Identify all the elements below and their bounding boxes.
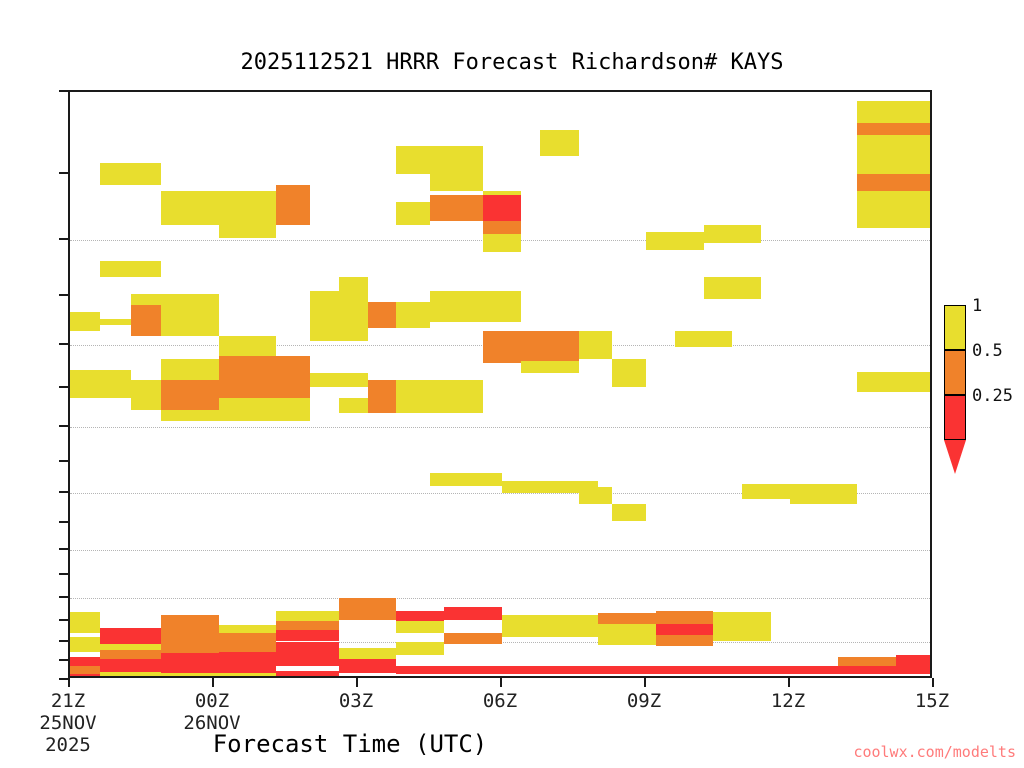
heatmap-cell (368, 380, 397, 413)
heatmap-cell (838, 657, 896, 665)
heatmap-cell (579, 331, 613, 358)
heatmap-cell (857, 174, 932, 191)
heatmap-cell (540, 130, 578, 155)
heatmap-cell (857, 101, 932, 123)
y-tick-mark-850 (59, 619, 68, 621)
heatmap-cell (219, 225, 277, 237)
heatmap-cell (713, 612, 771, 626)
heatmap-cell (219, 673, 277, 677)
heatmap-cell (790, 484, 857, 504)
heatmap-cell (100, 163, 161, 185)
y-tick-mark-950 (59, 659, 68, 661)
heatmap-cell (396, 202, 430, 226)
colorbar-segment-1 (944, 305, 966, 350)
colorbar-label-0.25: 0.25 (972, 386, 1013, 406)
heatmap-cell (70, 370, 100, 398)
watermark-link[interactable]: coolwx.com/modelts (853, 743, 1016, 761)
y-tick-mark-450 (59, 386, 68, 388)
heatmap-cell (100, 261, 161, 277)
heatmap-cell (483, 195, 521, 222)
heatmap-cell (444, 633, 502, 643)
x-tick-mark-12Z (788, 678, 790, 687)
heatmap-cell (219, 191, 277, 226)
heatmap-cell (396, 380, 430, 413)
heatmap-cell (713, 626, 771, 641)
heatmap-cell (396, 302, 430, 329)
y-tick-mark-550 (59, 460, 68, 462)
page-title: 2025112521 HRRR Forecast Richardson# KAY… (0, 50, 1024, 75)
x-tick-mark-00Z (212, 678, 214, 687)
heatmap-cell (483, 221, 521, 234)
heatmap-cell (896, 655, 932, 674)
heatmap-cell (100, 644, 161, 651)
heatmap-cell (161, 191, 219, 226)
colorbar-legend: 10.50.25 (944, 305, 966, 467)
heatmap-cell (339, 398, 368, 413)
heatmap-cell (502, 626, 598, 637)
y-tick-mark-600 (59, 491, 68, 493)
gridline-500 (70, 427, 930, 429)
heatmap-cell (70, 312, 100, 331)
y-tick-mark-200 (59, 90, 68, 92)
heatmap-cell (219, 625, 277, 633)
heatmap-cell (598, 613, 656, 624)
heatmap-cell (742, 484, 790, 499)
colorbar-label-1: 1 (972, 296, 982, 316)
heatmap-cell (339, 659, 397, 672)
heatmap-cell (131, 380, 161, 410)
heatmap-cell (430, 473, 502, 486)
heatmap-cell (598, 624, 656, 633)
heatmap-cell (430, 195, 483, 222)
heatmap-cell (100, 628, 161, 643)
heatmap-cell (857, 191, 932, 228)
gridline-700 (70, 550, 930, 552)
heatmap-cell (502, 666, 598, 675)
heatmap-cell (396, 146, 430, 173)
x-tick-mark-09Z (644, 678, 646, 687)
heatmap-cell (598, 666, 656, 675)
y-tick-mark-700 (59, 548, 68, 550)
heatmap-cell (430, 146, 483, 173)
heatmap-cell (70, 666, 100, 675)
heatmap-cell (276, 611, 338, 621)
heatmap-cell (598, 633, 656, 644)
heatmap-cell (219, 336, 277, 356)
heatmap-cell (70, 637, 100, 652)
x-tick-label-03Z: 03Z (286, 690, 426, 712)
heatmap-cell (704, 225, 762, 242)
heatmap-cell (219, 398, 277, 421)
heatmap-cell (483, 234, 521, 252)
heatmap-cell (161, 615, 219, 643)
colorbar-segment-0.5 (944, 350, 966, 395)
y-tick-mark-500 (59, 425, 68, 427)
y-tick-mark-1000 (59, 678, 68, 680)
heatmap-cell (276, 621, 338, 629)
heatmap-cell (612, 359, 646, 387)
x-axis-title: Forecast Time (UTC) (0, 730, 700, 758)
heatmap-cell (656, 611, 714, 624)
heatmap-cell (276, 671, 338, 676)
colorbar-bottom-arrow-icon (944, 440, 966, 474)
y-tick-mark-800 (59, 596, 68, 598)
heatmap-cell (444, 666, 502, 675)
x-tick-label-06Z: 06Z (430, 690, 570, 712)
heatmap-cell (396, 611, 444, 621)
heatmap-cell (612, 504, 646, 521)
heatmap-cell (713, 666, 771, 675)
heatmap-cell (70, 612, 100, 633)
heatmap-cell (675, 331, 733, 347)
heatmap-cell (502, 615, 598, 625)
heatmap-cell (430, 291, 483, 321)
heatmap-cell (219, 633, 277, 651)
heatmap-cell (70, 674, 100, 678)
heatmap-cell (396, 621, 444, 633)
heatmap-cell (339, 277, 368, 307)
heatmap-cell (656, 666, 714, 675)
heatmap-cell (339, 598, 397, 619)
gridline-800 (70, 598, 930, 600)
y-tick-mark-250 (59, 172, 68, 174)
heatmap-cell (396, 666, 444, 675)
heatmap-cell (161, 380, 219, 410)
x-tick-label-09Z: 09Z (574, 690, 714, 712)
heatmap-cell (339, 648, 397, 660)
heatmap-cell (310, 307, 368, 341)
heatmap-cell (857, 372, 932, 393)
y-tick-mark-750 (59, 573, 68, 575)
heatmap-cell (100, 387, 131, 398)
y-tick-mark-400 (59, 343, 68, 345)
heatmap-cell (502, 481, 598, 493)
heatmap-cell (521, 361, 579, 373)
heatmap-cell (161, 644, 219, 654)
heatmap-cell (656, 635, 714, 646)
heatmap-cell (70, 657, 100, 665)
heatmap-cell (646, 232, 704, 250)
x-tick-label-00Z: 00Z26NOV (142, 690, 282, 734)
heatmap-cell (704, 277, 762, 298)
heatmap-cell (430, 171, 483, 191)
heatmap-cell (483, 331, 579, 363)
heatmap-cell (100, 650, 161, 659)
heatmap-cell (276, 356, 310, 398)
x-tick-mark-15Z (932, 678, 934, 687)
heatmap-cell (310, 291, 339, 307)
heatmap-cell (161, 410, 219, 421)
heatmap-cell (100, 319, 131, 325)
x-tick-label-12Z: 12Z (718, 690, 858, 712)
x-tick-mark-03Z (356, 678, 358, 687)
y-tick-mark-900 (59, 640, 68, 642)
x-tick-label-15Z: 15Z (862, 690, 1002, 712)
heatmap-cell (396, 642, 444, 656)
heatmap-cell (100, 370, 131, 387)
heatmap-cell (276, 630, 338, 642)
forecast-cross-section-figure: 2025112521 HRRR Forecast Richardson# KAY… (0, 0, 1024, 768)
heatmap-cell (310, 373, 368, 386)
heatmap-cell (857, 123, 932, 135)
y-tick-mark-300 (59, 238, 68, 240)
heatmap-cell (430, 380, 483, 413)
colorbar-label-0.5: 0.5 (972, 341, 1003, 361)
heatmap-cell (161, 359, 219, 380)
heatmap-cell (444, 607, 502, 619)
heatmap-cell (276, 398, 310, 421)
y-tick-mark-350 (59, 294, 68, 296)
heatmap-cell (656, 624, 714, 635)
heatmap-cell (368, 302, 397, 329)
heatmap-cell (219, 356, 277, 398)
heatmap-cell (483, 291, 521, 321)
x-tick-mark-06Z (500, 678, 502, 687)
x-tick-mark-21Z (68, 678, 70, 687)
heatmap-cell (100, 672, 161, 676)
heatmap-cell (131, 305, 161, 336)
heatmap-cell (161, 294, 219, 336)
heatmap-cell (276, 185, 310, 225)
colorbar-top-arrow-icon (944, 279, 966, 305)
colorbar-segment-0.25 (944, 395, 966, 440)
y-tick-mark-650 (59, 521, 68, 523)
heatmap-plot-area[interactable] (68, 90, 932, 678)
heatmap-cell (161, 673, 219, 677)
